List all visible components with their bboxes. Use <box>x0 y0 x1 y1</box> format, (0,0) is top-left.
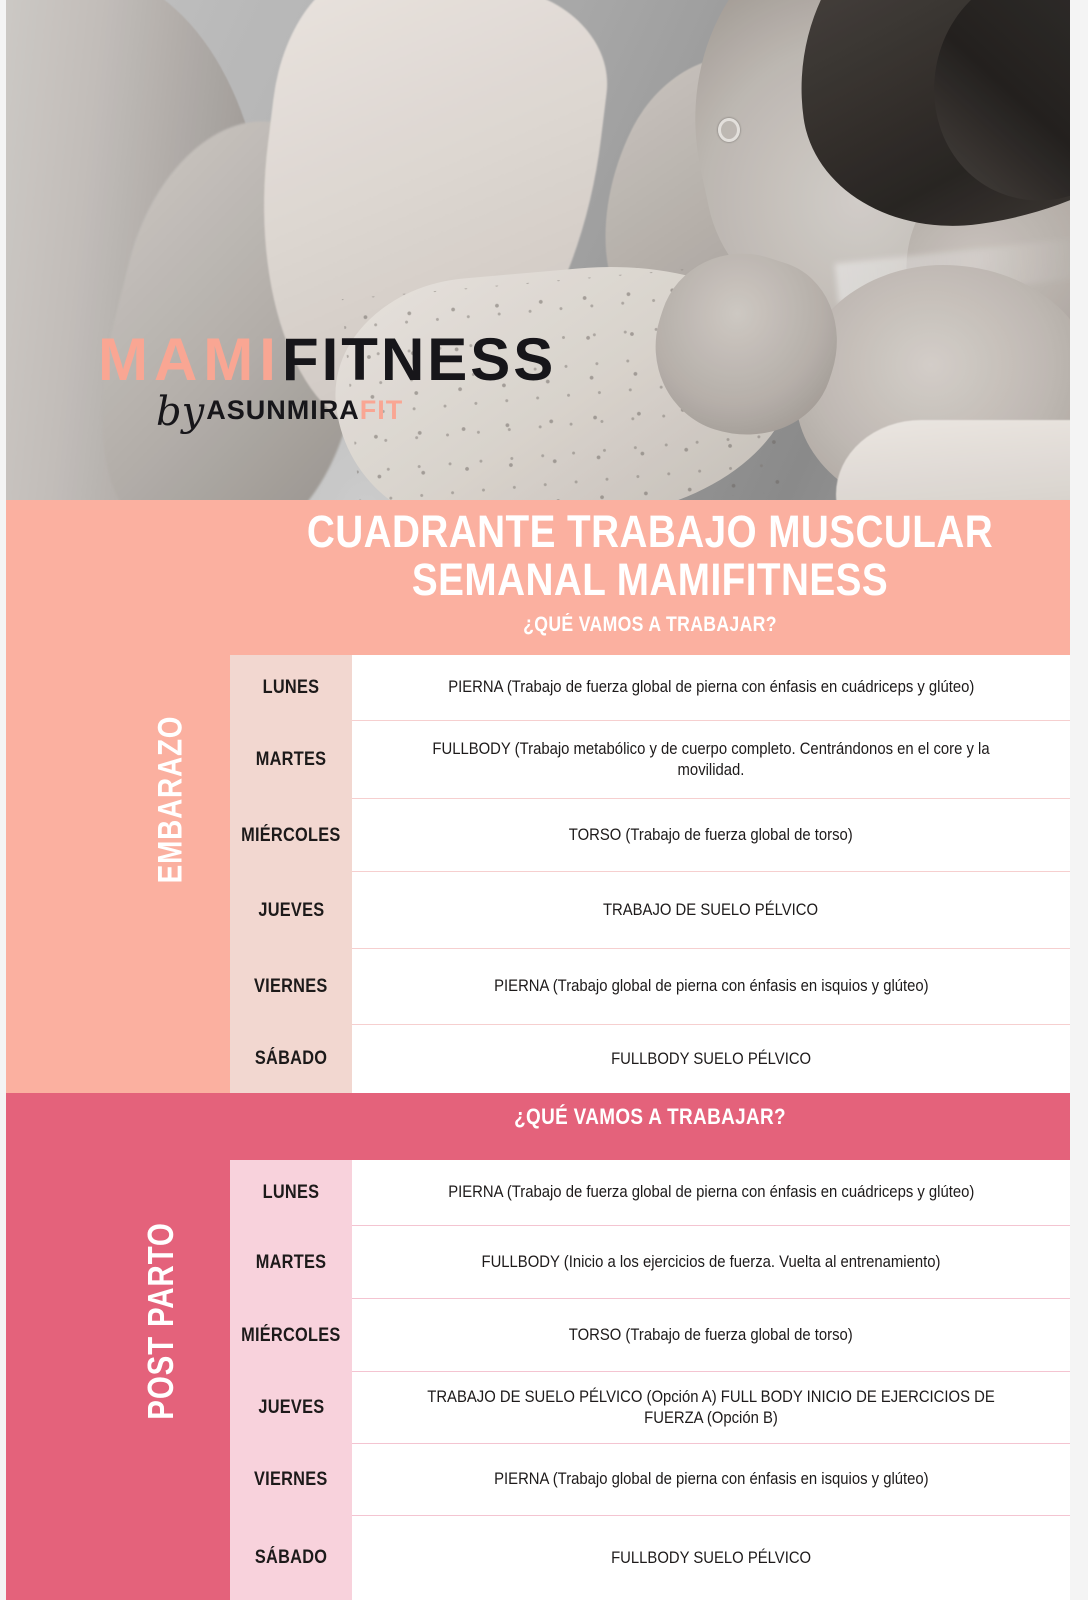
table-row: SÁBADO FULLBODY SUELO PÉLVICO <box>230 1516 1070 1600</box>
brand-logo: MAMIFITNESS byASUNMIRAFIT <box>98 330 556 426</box>
day-label-text: MIÉRCOLES <box>241 1325 340 1347</box>
workout-desc-text: PIERNA (Trabajo de fuerza global de pier… <box>448 1182 974 1203</box>
day-label-text: VIERNES <box>254 1469 328 1491</box>
logo-asunmira-text: ASUNMIRA <box>206 395 360 425</box>
table-row: VIERNES PIERNA (Trabajo global de pierna… <box>230 949 1070 1025</box>
day-label-cell: SÁBADO <box>230 1516 352 1600</box>
day-label-cell: MIÉRCOLES <box>230 1299 352 1372</box>
table-row: MIÉRCOLES TORSO (Trabajo de fuerza globa… <box>230 799 1070 872</box>
table-row: VIERNES PIERNA (Trabajo global de pierna… <box>230 1444 1070 1516</box>
day-label-cell: MARTES <box>230 721 352 799</box>
section-label-postparto: POST PARTO <box>140 1219 182 1424</box>
day-label-cell: LUNES <box>230 655 352 721</box>
workout-desc-text: PIERNA (Trabajo global de pierna con énf… <box>494 976 928 997</box>
day-label-cell: JUEVES <box>230 1372 352 1444</box>
day-label-text: LUNES <box>263 1182 320 1204</box>
table-row: LUNES PIERNA (Trabajo de fuerza global d… <box>230 1160 1070 1226</box>
day-label-cell: VIERNES <box>230 1444 352 1516</box>
workout-desc-text: TRABAJO DE SUELO PÉLVICO (Opción A) FULL… <box>399 1387 1024 1428</box>
day-label-cell: VIERNES <box>230 949 352 1025</box>
day-label-cell: JUEVES <box>230 872 352 949</box>
poster-title-block: CUADRANTE TRABAJO MUSCULAR SEMANAL MAMIF… <box>230 508 1070 637</box>
hero-photo: MAMIFITNESS byASUNMIRAFIT <box>6 0 1070 500</box>
workout-desc-cell: FULLBODY (Inicio a los ejercicios de fue… <box>352 1226 1070 1299</box>
workout-desc-text: FULLBODY SUELO PÉLVICO <box>611 1049 811 1070</box>
workout-desc-text: TORSO (Trabajo de fuerza global de torso… <box>569 825 853 846</box>
workout-desc-text: FULLBODY (Trabajo metabólico y de cuerpo… <box>399 739 1024 780</box>
section-label-embarazo: EMBARAZO <box>152 705 191 894</box>
table-row: MARTES FULLBODY (Inicio a los ejercicios… <box>230 1226 1070 1299</box>
day-label-cell: MARTES <box>230 1226 352 1299</box>
schedule-table-embarazo: LUNES PIERNA (Trabajo de fuerza global d… <box>230 655 1070 1093</box>
workout-desc-cell: FULLBODY (Trabajo metabólico y de cuerpo… <box>352 721 1070 799</box>
table-row: MARTES FULLBODY (Trabajo metabólico y de… <box>230 721 1070 799</box>
day-label-text: MIÉRCOLES <box>241 825 340 847</box>
page-frame-right <box>1070 0 1088 1600</box>
workout-desc-cell: TRABAJO DE SUELO PÉLVICO <box>352 872 1070 949</box>
schedule-table-postparto: LUNES PIERNA (Trabajo de fuerza global d… <box>230 1160 1070 1600</box>
workout-desc-text: PIERNA (Trabajo de fuerza global de pier… <box>448 677 974 698</box>
workout-desc-text: TRABAJO DE SUELO PÉLVICO <box>603 900 818 921</box>
section-subtitle-postparto: ¿QUÉ VAMOS A TRABAJAR? <box>289 1104 1011 1130</box>
workout-desc-cell: TORSO (Trabajo de fuerza global de torso… <box>352 1299 1070 1372</box>
day-label-text: MARTES <box>256 1252 327 1274</box>
poster-page: MAMIFITNESS byASUNMIRAFIT CUADRANTE TRAB… <box>0 0 1088 1600</box>
table-row: SÁBADO FULLBODY SUELO PÉLVICO <box>230 1025 1070 1093</box>
day-label-text: JUEVES <box>258 1397 324 1419</box>
page-title-line-2: SEMANAL MAMIFITNESS <box>289 556 1011 604</box>
workout-desc-cell: FULLBODY SUELO PÉLVICO <box>352 1516 1070 1600</box>
workout-desc-cell: TORSO (Trabajo de fuerza global de torso… <box>352 799 1070 872</box>
day-label-cell: SÁBADO <box>230 1025 352 1093</box>
day-label-cell: LUNES <box>230 1160 352 1226</box>
day-label-text: SÁBADO <box>255 1048 327 1070</box>
workout-desc-text: TORSO (Trabajo de fuerza global de torso… <box>569 1325 853 1346</box>
workout-desc-cell: FULLBODY SUELO PÉLVICO <box>352 1025 1070 1093</box>
workout-desc-text: FULLBODY (Inicio a los ejercicios de fue… <box>482 1252 941 1273</box>
logo-by-text: by <box>156 389 204 435</box>
workout-desc-cell: PIERNA (Trabajo de fuerza global de pier… <box>352 655 1070 721</box>
logo-fitness-text: FITNESS <box>282 326 556 393</box>
workout-desc-text: FULLBODY SUELO PÉLVICO <box>611 1548 811 1569</box>
day-label-text: LUNES <box>263 677 320 699</box>
page-frame-left <box>0 0 6 1600</box>
day-label-cell: MIÉRCOLES <box>230 799 352 872</box>
workout-desc-cell: TRABAJO DE SUELO PÉLVICO (Opción A) FULL… <box>352 1372 1070 1444</box>
workout-desc-cell: PIERNA (Trabajo global de pierna con énf… <box>352 949 1070 1025</box>
table-row: MIÉRCOLES TORSO (Trabajo de fuerza globa… <box>230 1299 1070 1372</box>
day-label-text: VIERNES <box>254 976 328 998</box>
logo-mami-text: MAMI <box>98 326 282 393</box>
day-label-text: MARTES <box>256 749 327 771</box>
table-row: JUEVES TRABAJO DE SUELO PÉLVICO (Opción … <box>230 1372 1070 1444</box>
logo-wordmark: MAMIFITNESS <box>98 330 556 390</box>
workout-desc-text: PIERNA (Trabajo global de pierna con énf… <box>494 1469 928 1490</box>
day-label-text: JUEVES <box>258 900 324 922</box>
table-row: LUNES PIERNA (Trabajo de fuerza global d… <box>230 655 1070 721</box>
workout-desc-cell: PIERNA (Trabajo de fuerza global de pier… <box>352 1160 1070 1226</box>
page-title-line-1: CUADRANTE TRABAJO MUSCULAR <box>289 508 1011 556</box>
page-subtitle: ¿QUÉ VAMOS A TRABAJAR? <box>297 613 1003 637</box>
logo-fit-accent-text: FIT <box>360 395 404 425</box>
workout-desc-cell: PIERNA (Trabajo global de pierna con énf… <box>352 1444 1070 1516</box>
table-row: JUEVES TRABAJO DE SUELO PÉLVICO <box>230 872 1070 949</box>
day-label-text: SÁBADO <box>255 1547 327 1569</box>
